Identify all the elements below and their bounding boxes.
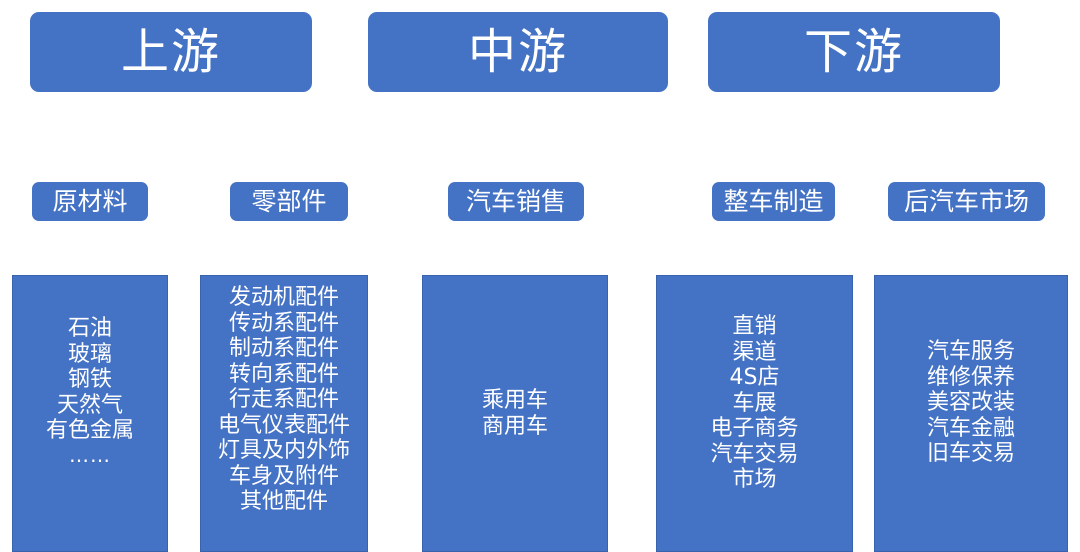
panel-item: 钢铁 xyxy=(68,367,112,393)
category-pill-raw-materials[interactable]: 原材料 xyxy=(32,182,148,221)
panel-item: 汽车服务 xyxy=(927,339,1015,365)
panel-item: 发动机配件 xyxy=(229,285,339,311)
panel-item: 转向系配件 xyxy=(229,362,339,388)
panel-item: 4S店 xyxy=(730,365,780,391)
panel-item: 车身及附件 xyxy=(229,464,339,490)
panel-item: 美容改装 xyxy=(927,390,1015,416)
tier-header-upstream[interactable]: 上游 xyxy=(30,12,312,92)
panel-item: 直销 xyxy=(732,314,776,340)
panel-aftermarket: 汽车服务维修保养美容改装汽车金融旧车交易 xyxy=(874,275,1068,552)
category-pill-auto-sales[interactable]: 汽车销售 xyxy=(448,182,584,221)
panel-vehicle-manufacturing: 直销渠道4S店车展电子商务汽车交易市场 xyxy=(656,275,853,552)
panel-item: 乘用车 xyxy=(482,388,548,414)
panel-item: 车展 xyxy=(732,391,776,417)
tier-header-midstream-label: 中游 xyxy=(468,28,568,76)
panel-raw-materials: 石油玻璃钢铁天然气有色金属…… xyxy=(12,275,168,552)
category-pill-label: 原材料 xyxy=(52,189,127,214)
panel-item: 有色金属 xyxy=(46,418,134,444)
panel-auto-sales: 乘用车商用车 xyxy=(422,275,608,552)
industry-chain-diagram: 上游 中游 下游 原材料 零部件 汽车销售 整车制造 后汽车市场 石油玻璃钢铁天… xyxy=(0,0,1080,552)
panel-item: 传动系配件 xyxy=(229,311,339,337)
category-pill-label: 汽车销售 xyxy=(466,189,566,214)
category-pill-label: 零部件 xyxy=(251,189,326,214)
category-pill-label: 后汽车市场 xyxy=(904,189,1029,214)
category-pill-label: 整车制造 xyxy=(723,189,823,214)
panel-item: 制动系配件 xyxy=(229,336,339,362)
panel-item: …… xyxy=(69,444,111,467)
panel-item: 渠道 xyxy=(732,340,776,366)
category-pill-aftermarket[interactable]: 后汽车市场 xyxy=(888,182,1045,221)
tier-header-downstream[interactable]: 下游 xyxy=(708,12,1000,92)
panel-item: 维修保养 xyxy=(927,365,1015,391)
panel-item: 旧车交易 xyxy=(927,441,1015,467)
panel-item: 市场 xyxy=(732,467,776,493)
tier-header-midstream[interactable]: 中游 xyxy=(368,12,668,92)
category-pill-vehicle-manufacturing[interactable]: 整车制造 xyxy=(712,182,835,221)
category-pill-components[interactable]: 零部件 xyxy=(230,182,348,221)
panel-item: 商用车 xyxy=(482,414,548,440)
panel-item: 天然气 xyxy=(57,393,123,419)
panel-item: 汽车交易 xyxy=(710,442,798,468)
panel-item: 其他配件 xyxy=(240,489,328,515)
panel-item: 玻璃 xyxy=(68,342,112,368)
panel-item: 灯具及内外饰 xyxy=(218,438,350,464)
tier-header-upstream-label: 上游 xyxy=(121,28,221,76)
panel-item: 石油 xyxy=(68,316,112,342)
panel-components: 发动机配件传动系配件制动系配件转向系配件行走系配件电气仪表配件灯具及内外饰车身及… xyxy=(200,275,368,552)
panel-item: 汽车金融 xyxy=(927,416,1015,442)
panel-item: 行走系配件 xyxy=(229,387,339,413)
tier-header-downstream-label: 下游 xyxy=(804,28,904,76)
panel-item: 电子商务 xyxy=(710,416,798,442)
panel-item: 电气仪表配件 xyxy=(218,413,350,439)
